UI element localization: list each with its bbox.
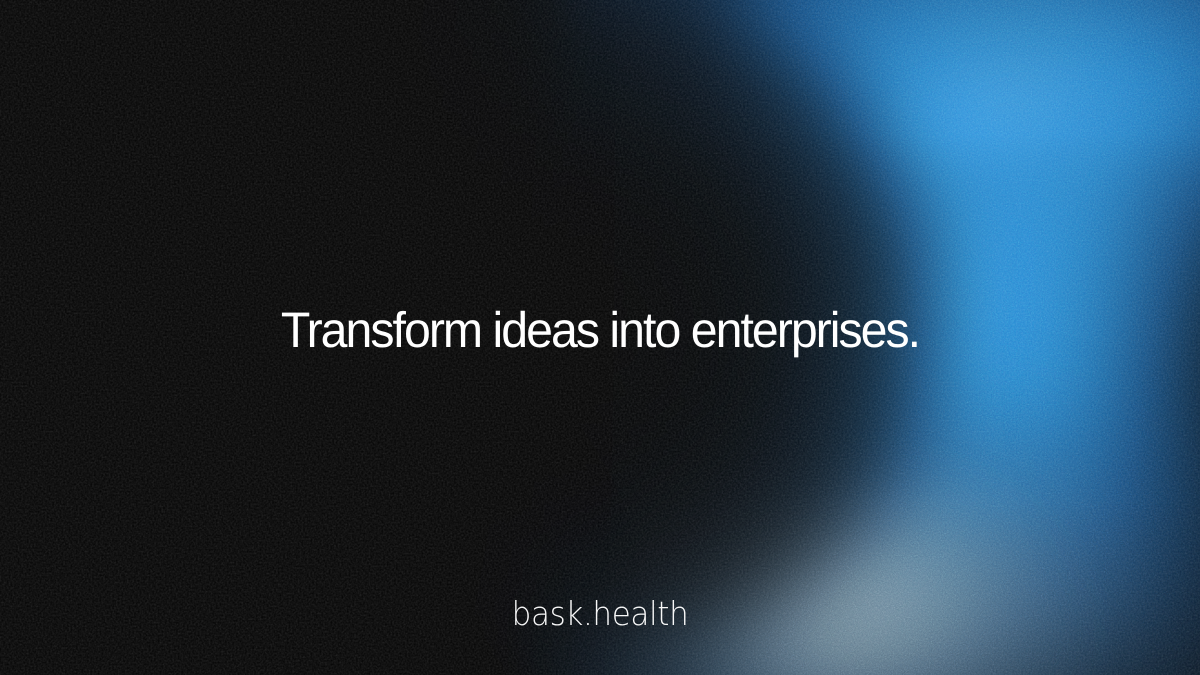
promo-banner: Transform ideas into enterprises. bask.h…: [0, 0, 1200, 675]
headline-text: Transform ideas into enterprises.: [21, 303, 1179, 357]
content-layer: Transform ideas into enterprises. bask.h…: [0, 0, 1200, 675]
brand-wordmark: bask.health: [36, 596, 1164, 632]
